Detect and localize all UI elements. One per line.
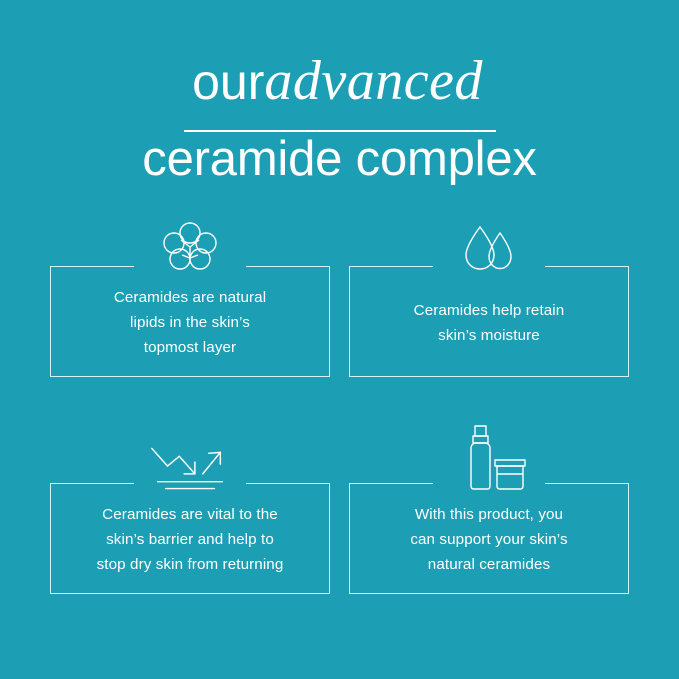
promotional-graphic: ouradvanced ceramide complex [0,0,679,679]
benefit-card-retain-moisture: Ceramides help retain skin’s moisture [349,266,629,377]
heading-word-advanced: advanced [264,50,487,112]
page-title: ouradvanced ceramide complex [0,52,679,187]
benefit-card-ceramides-natural-lipids: Ceramides are natural lipids in the skin… [50,266,330,377]
water-droplets-icon [433,215,545,277]
benefit-card-row-2: Ceramides are vital to the skin’s barrie… [50,483,629,594]
card-line: Ceramides are natural [114,285,266,310]
benefit-card-text: With this product, you can support your … [410,502,567,577]
card-line: skin’s moisture [414,323,565,348]
benefit-card-row-1: Ceramides are natural lipids in the skin… [50,266,629,377]
benefit-card-grid: Ceramides are natural lipids in the skin… [50,266,629,594]
benefit-card-text: Ceramides help retain skin’s moisture [414,298,565,348]
benefit-card-text: Ceramides are vital to the skin’s barrie… [97,502,284,577]
heading-underline-divider [184,130,496,132]
benefit-card-skin-barrier: Ceramides are vital to the skin’s barrie… [50,483,330,594]
card-line: Ceramides help retain [414,298,565,323]
card-line: lipids in the skin’s [114,310,266,335]
card-line: Ceramides are vital to the [97,502,284,527]
heading-line-1: ouradvanced [0,52,679,111]
benefit-card-text: Ceramides are natural lipids in the skin… [114,285,266,360]
card-line: can support your skin’s [410,527,567,552]
card-line: stop dry skin from returning [97,552,284,577]
card-line: topmost layer [114,335,266,360]
barrier-arrows-icon [134,432,246,494]
benefit-card-support-natural-ceramides: With this product, you can support your … [349,483,629,594]
card-line: natural ceramides [410,552,567,577]
heading-word-our: our [192,54,264,110]
bottle-and-jar-icon [433,422,545,494]
card-line: skin’s barrier and help to [97,527,284,552]
heading-line-2: ceramide complex [0,131,679,187]
card-line: With this product, you [410,502,567,527]
ceramide-molecule-icon [134,215,246,277]
